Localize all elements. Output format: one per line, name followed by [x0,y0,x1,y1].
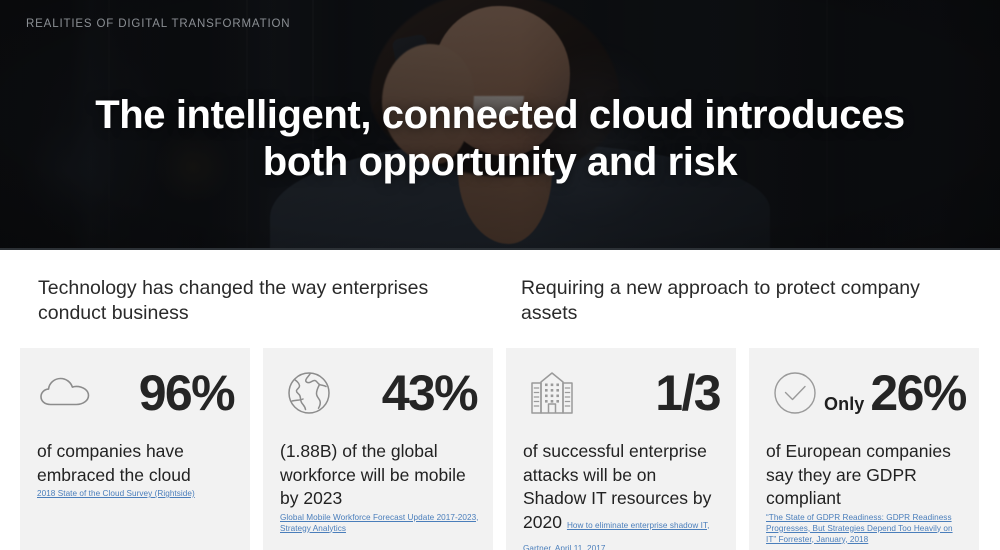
citation-link[interactable]: 2018 State of the Cloud Survey (Rightsid… [37,488,236,499]
stat-card-body: of European companies say they are GDPR … [766,440,965,545]
stat-card-gdpr: Only 26% of European companies say they … [749,348,979,550]
stat-figure: 43% [338,368,481,418]
stat-value: 1/3 [655,368,720,418]
stat-card-header: Only 26% [766,362,967,424]
stat-card-header: 96% [37,362,238,424]
stat-description: of European companies say they are GDPR … [766,441,951,508]
stat-value: 96% [139,368,234,418]
page-title-line-1: The intelligent, connected cloud introdu… [95,93,905,137]
stat-description: of companies have embraced the cloud [37,441,191,485]
stat-value: 43% [382,368,477,418]
stat-card-header: 1/3 [523,362,724,424]
cloud-icon [37,366,95,420]
stat-figure: Only 26% [824,368,970,418]
stat-card-row: 96% of companies have embraced the cloud… [20,348,980,550]
content-area: Technology has changed the way enterpris… [0,250,1000,550]
page-title-line-2: both opportunity and risk [263,140,737,184]
citation-link[interactable]: “The State of GDPR Readiness: GDPR Readi… [766,512,965,545]
check-circle-icon [766,366,824,420]
globe-icon [280,366,338,420]
stat-card-body: of companies have embraced the cloud 201… [37,440,236,499]
stat-card-body: of successful enterprise attacks will be… [523,440,722,550]
section-heading-left: Technology has changed the way enterpris… [38,276,458,326]
stat-card-cloud: 96% of companies have embraced the cloud… [20,348,250,550]
stat-card-header: 43% [280,362,481,424]
page-title: The intelligent, connected cloud introdu… [0,92,1000,186]
stat-card-body: (1.88B) of the global workforce will be … [280,440,479,534]
stat-figure: 96% [95,368,238,418]
stat-card-shadow-it: 1/3 of successful enterprise attacks wil… [506,348,736,550]
stat-figure: 1/3 [581,368,724,418]
eyebrow-label: REALITIES OF DIGITAL TRANSFORMATION [26,18,290,30]
office-building-icon [523,366,581,420]
stat-description: of successful enterprise attacks will be… [523,441,711,532]
stat-card-mobile-workforce: 43% (1.88B) of the global workforce will… [263,348,493,550]
citation-link[interactable]: Global Mobile Workforce Forecast Update … [280,512,479,534]
stat-prefix: Only [824,394,864,415]
stat-description: (1.88B) of the global workforce will be … [280,441,466,508]
hero-banner: REALITIES OF DIGITAL TRANSFORMATION The … [0,0,1000,250]
stat-value: 26% [870,368,965,418]
section-heading-right: Requiring a new approach to protect comp… [521,276,941,326]
section-headings: Technology has changed the way enterpris… [0,250,1000,338]
slide: REALITIES OF DIGITAL TRANSFORMATION The … [0,0,1000,550]
